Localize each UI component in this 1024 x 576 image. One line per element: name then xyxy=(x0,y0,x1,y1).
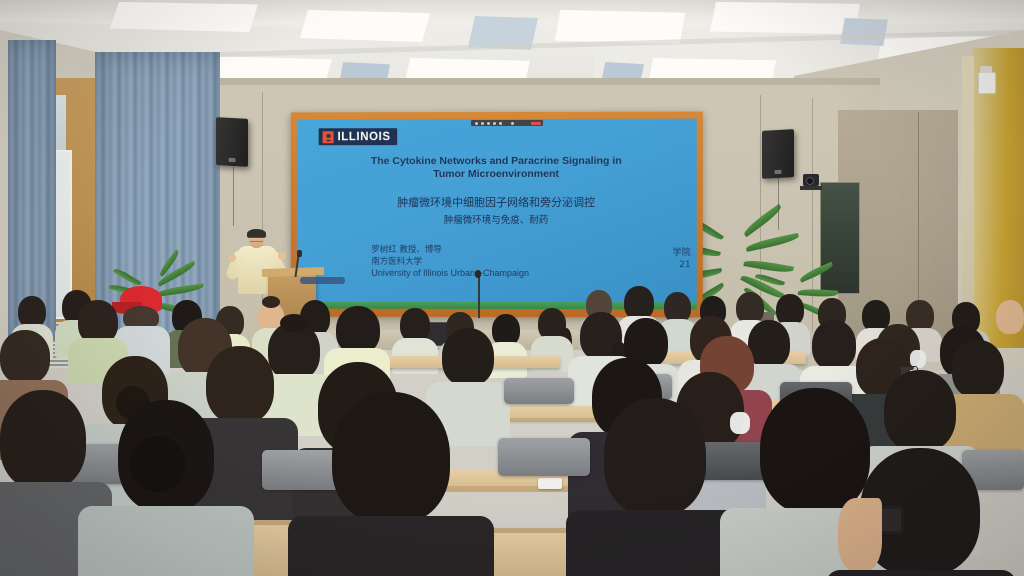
curtain-left xyxy=(8,40,56,340)
presenter-glasses xyxy=(250,237,263,242)
wall-speaker-left xyxy=(216,117,248,167)
illinois-logo-text: ILLINOIS xyxy=(338,131,391,143)
camera-lens-icon xyxy=(806,177,814,185)
person-torso xyxy=(78,506,254,576)
speaker-cable xyxy=(233,166,234,226)
ceiling-light-panel xyxy=(840,18,888,46)
slide-title: The Cytokine Networks and Paracrine Sign… xyxy=(317,155,677,181)
person-head xyxy=(812,320,856,370)
person-head xyxy=(748,320,790,368)
wall-panel-seam xyxy=(812,98,813,332)
person-head xyxy=(760,388,870,514)
phone-on-desk xyxy=(538,478,562,489)
projection-screen[interactable]: ILLINOIS The Cytokine Networks and Parac… xyxy=(297,119,697,310)
person-head xyxy=(604,398,706,516)
person-hair-bun xyxy=(130,436,186,492)
slide-corner-number: 21 xyxy=(673,259,691,271)
person-torso xyxy=(566,510,746,576)
speaker-cable xyxy=(778,178,779,230)
presenter-hand-left xyxy=(228,254,236,262)
person-head xyxy=(0,390,86,490)
wall-fixture-clips xyxy=(980,66,992,73)
slide-affiliation-english: University of Illinois Urbana-Champaign xyxy=(371,268,671,280)
person-hair-bun xyxy=(280,314,308,332)
slide-affiliation-chinese: 南方医科大学 xyxy=(371,256,671,268)
person-head xyxy=(336,306,380,354)
illinois-logo: ILLINOIS xyxy=(319,128,398,145)
slide-corner-text: 学院 xyxy=(673,247,691,259)
person-head xyxy=(0,330,50,384)
person-head xyxy=(624,286,654,320)
ceiling-light-panel xyxy=(300,10,430,42)
right-wall-window xyxy=(820,182,860,294)
ceiling-light-panel xyxy=(710,2,860,34)
person-head xyxy=(884,370,956,452)
wall-top-trim xyxy=(160,78,880,85)
wall-panel-seam xyxy=(262,92,263,332)
powerpoint-toolbar[interactable] xyxy=(471,120,543,126)
person-head xyxy=(442,328,494,386)
wall-fixture xyxy=(978,72,996,94)
podium-object xyxy=(300,277,345,284)
slide-author-block: 罗树红 教授、博导 南方医科大学 University of Illinois … xyxy=(371,245,671,280)
person-head xyxy=(996,300,1024,334)
slide-title-line1: The Cytokine Networks and Paracrine Sign… xyxy=(317,155,677,168)
illinois-block-i-icon xyxy=(323,131,334,143)
microphone-stand-center xyxy=(478,276,480,318)
slide-subtitle-chinese-2: 肿瘤微环境与免疫、耐药 xyxy=(317,214,677,228)
presenter-hand-right xyxy=(278,252,286,260)
person-face xyxy=(838,498,882,572)
slide-subtitle-chinese-1: 肿瘤微环境中细胞因子网络和旁分泌调控 xyxy=(317,195,677,210)
person-hair-bun xyxy=(262,296,280,308)
person-head xyxy=(332,392,450,524)
person-torso xyxy=(826,570,1016,576)
person-head xyxy=(206,346,274,424)
ceiling-light-panel xyxy=(110,2,258,32)
lecture-hall-scene: ILLINOIS The Cytokine Networks and Parac… xyxy=(0,0,1024,576)
microphone-icon xyxy=(297,250,302,257)
person-head xyxy=(952,340,1004,398)
chair-back xyxy=(504,378,574,404)
face-mask xyxy=(730,412,750,434)
microphone-head-center-icon xyxy=(475,270,481,278)
slide-author-name: 罗树红 教授、博导 xyxy=(371,245,671,257)
person-torso xyxy=(288,516,494,576)
wall-speaker-right xyxy=(762,129,794,179)
slide-title-line2: Tumor Microenvironment xyxy=(317,168,677,181)
person-head xyxy=(400,308,430,342)
slide-corner-note: 学院 21 xyxy=(673,247,691,271)
camera-bracket xyxy=(800,186,822,190)
chair-back xyxy=(498,438,590,476)
